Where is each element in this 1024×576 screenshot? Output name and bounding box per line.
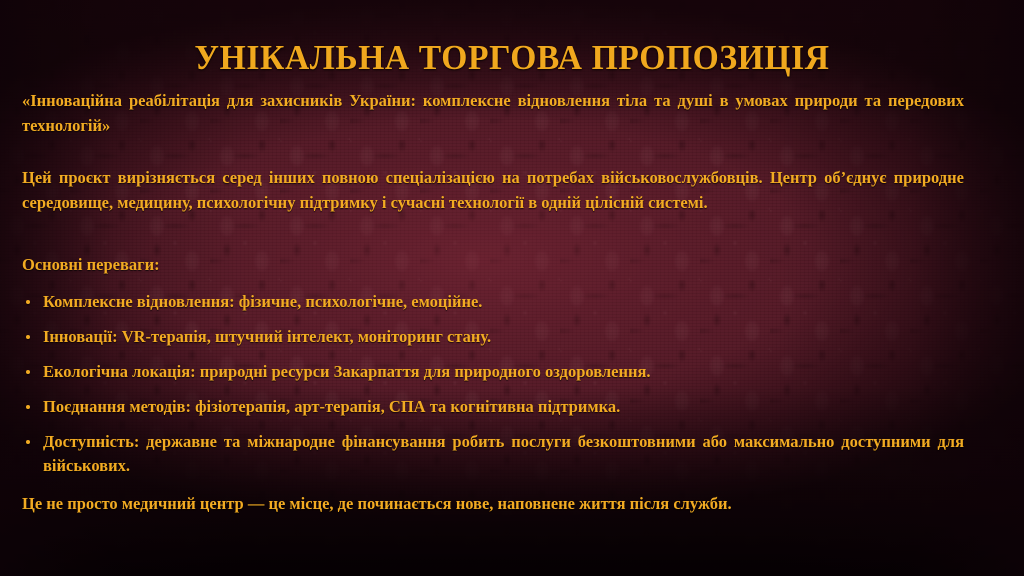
slide-body: «Інноваційна реабілітація для захисників… — [22, 88, 964, 516]
list-item: Інновації: VR-терапія, штучний інтелект,… — [22, 325, 964, 349]
presentation-slide: Унікальна торгова пропозиція «Інноваційн… — [0, 0, 1024, 576]
tagline-quote: «Інноваційна реабілітація для захисників… — [22, 88, 964, 138]
list-item: Доступність: державне та міжнародне фіна… — [22, 430, 964, 478]
list-item: Екологічна локація: природні ресурси Зак… — [22, 360, 964, 384]
list-item: Комплексне відновлення: фізичне, психоло… — [22, 290, 964, 314]
benefits-heading: Основні переваги: — [22, 253, 964, 277]
list-item: Поєднання методів: фізіотерапія, арт-тер… — [22, 395, 964, 419]
intro-paragraph: Цей проєкт вирізняється серед інших повн… — [22, 165, 964, 215]
slide-content: Унікальна торгова пропозиція «Інноваційн… — [0, 0, 1024, 576]
slide-title: Унікальна торгова пропозиція — [20, 40, 1003, 77]
closing-statement: Це не просто медичний центр — це місце, … — [22, 492, 964, 516]
benefits-list: Комплексне відновлення: фізичне, психоло… — [22, 290, 964, 478]
